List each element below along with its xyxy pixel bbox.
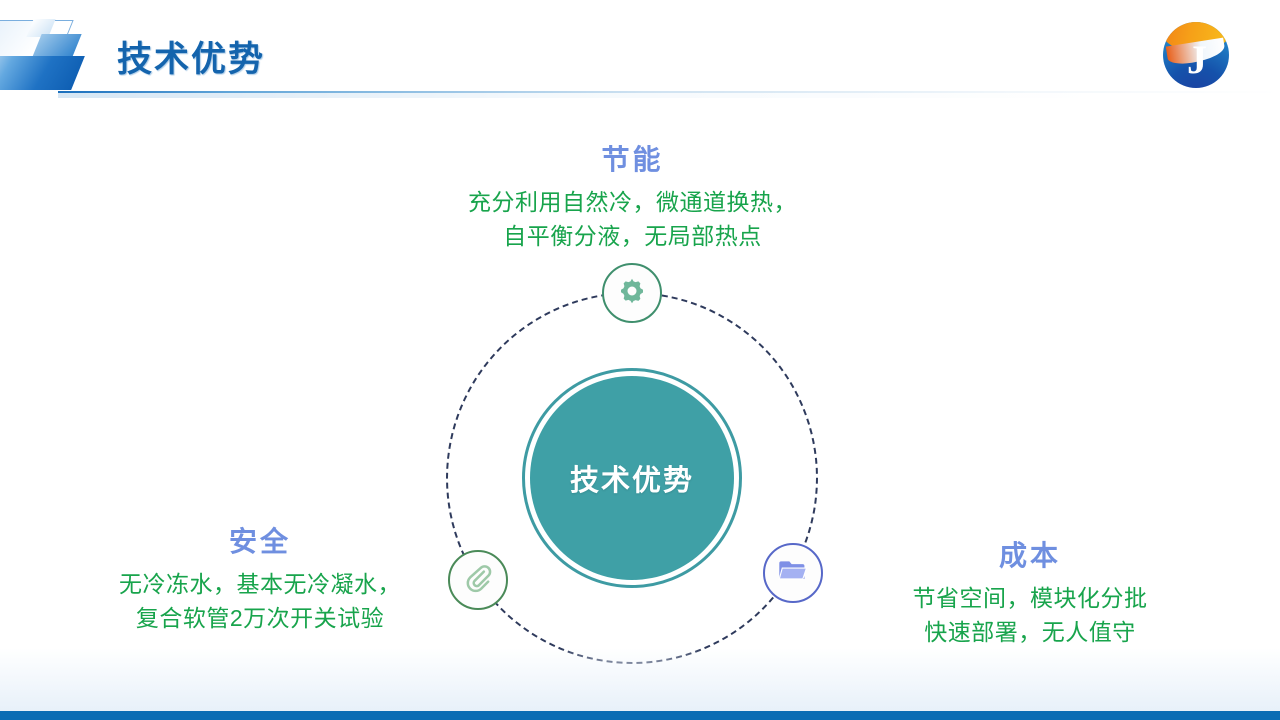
block-body-energy-line1: 充分利用自然冷，微通道换热， (340, 185, 925, 219)
block-title-cost: 成本 (790, 534, 1270, 574)
node-safety[interactable] (448, 550, 508, 610)
core-circle-label: 技术优势 (570, 457, 694, 499)
slide-header: 技术优势 J (0, 0, 1280, 95)
advantage-block-safety: 安全 无冷冻水，基本无冷凝水， 复合软管2万次开关试验 (20, 520, 500, 635)
block-body-energy-line2: 自平衡分液，无局部热点 (340, 219, 925, 253)
footer-bar (0, 711, 1280, 720)
block-title-safety: 安全 (20, 520, 500, 560)
block-body-cost-line2: 快速部署，无人值守 (790, 615, 1270, 649)
slide-canvas: 技术优势 J 节能 充分利用自然冷，微通道换热， 自平衡分液，无局部热点 安全 … (0, 0, 1280, 720)
company-logo: J (1163, 22, 1229, 88)
header-decoration-top-shape (26, 19, 55, 37)
header-divider-shadow (58, 93, 1280, 98)
block-body-safety-line2: 复合软管2万次开关试验 (20, 601, 500, 635)
block-title-energy: 节能 (340, 138, 925, 178)
logo-letter: J (1177, 37, 1217, 83)
header-decoration-lower-shape (0, 56, 85, 90)
header-decoration-mid-shape (30, 34, 81, 62)
folder-icon (777, 557, 809, 590)
block-body-safety-line1: 无冷冻水，基本无冷凝水， (20, 567, 500, 601)
paperclip-icon (462, 562, 494, 599)
node-cost[interactable] (763, 543, 823, 603)
block-body-cost-line1: 节省空间，模块化分批 (790, 581, 1270, 615)
header-decoration-outline-shape (0, 20, 74, 68)
footer-gradient (0, 648, 1280, 712)
advantage-diagram: 技术优势 (432, 278, 832, 678)
gear-icon (617, 276, 647, 311)
page-title: 技术优势 (117, 31, 265, 82)
node-energy[interactable] (602, 263, 662, 323)
advantage-block-cost: 成本 节省空间，模块化分批 快速部署，无人值守 (790, 534, 1270, 649)
core-circle: 技术优势 (530, 376, 734, 580)
advantage-block-energy: 节能 充分利用自然冷，微通道换热， 自平衡分液，无局部热点 (340, 138, 925, 253)
